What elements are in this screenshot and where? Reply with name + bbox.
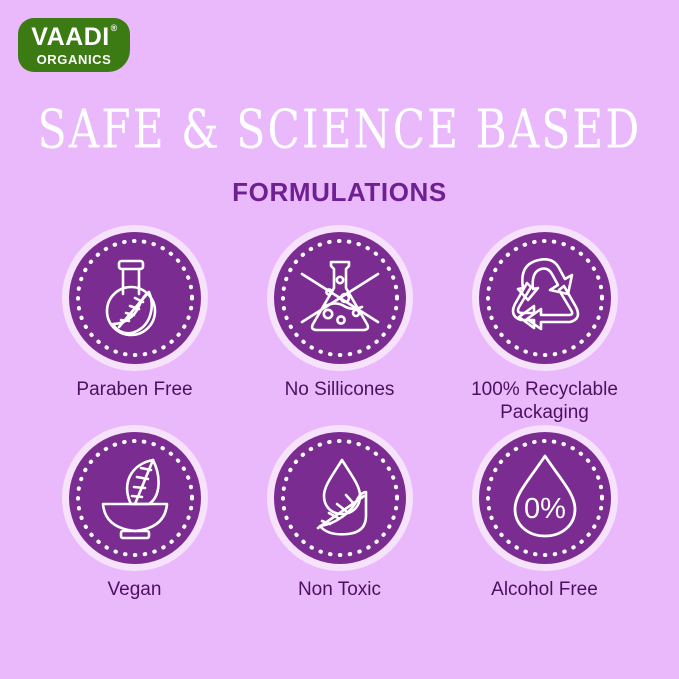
badge-item-no-sillicones: No Sillicones	[237, 232, 442, 401]
badge-item-vegan: Vegan	[32, 432, 237, 601]
page-subtitle: FORMULATIONS	[0, 177, 679, 208]
logo-subtext: ORGANICS	[37, 53, 112, 66]
badge-label: Paraben Free	[76, 378, 192, 401]
droplet-zero-percent-icon: 0%	[479, 432, 611, 564]
badge-circle	[479, 232, 611, 364]
recycle-icon	[479, 232, 611, 364]
page-title: SAFE & SCIENCE BASED	[20, 98, 658, 161]
badge-circle	[69, 432, 201, 564]
badge-label: 100% Recyclable Packaging	[450, 378, 640, 424]
bowl-leaf-icon	[69, 432, 201, 564]
badge-item-alcohol-free: 0% Alcohol Free	[442, 432, 647, 601]
badge-grid: Paraben Free	[0, 232, 679, 602]
badge-item-non-toxic: Non Toxic	[237, 432, 442, 601]
badge-item-recyclable-packaging: 100% Recyclable Packaging	[442, 232, 647, 424]
badge-row-2: Vegan Non Toxic	[0, 432, 679, 601]
badge-item-paraben-free: Paraben Free	[32, 232, 237, 401]
droplet-leaf-icon	[274, 432, 406, 564]
badge-circle	[274, 232, 406, 364]
badge-label: No Sillicones	[285, 378, 395, 401]
logo-wordmark-text: VAADI	[31, 23, 109, 51]
badge-label: Alcohol Free	[491, 578, 598, 601]
flask-crossed-out-icon	[274, 232, 406, 364]
badge-circle: 0%	[479, 432, 611, 564]
flask-leaf-icon	[69, 232, 201, 364]
zero-percent-text: 0%	[524, 493, 566, 525]
brand-logo: VAADI ® ORGANICS	[18, 18, 130, 72]
badge-label: Non Toxic	[298, 578, 381, 601]
badge-row-1: Paraben Free	[0, 232, 679, 424]
registered-trademark-icon: ®	[111, 24, 118, 33]
logo-wordmark: VAADI ®	[31, 25, 116, 50]
badge-label: Vegan	[108, 578, 162, 601]
badge-circle	[69, 232, 201, 364]
badge-circle	[274, 432, 406, 564]
